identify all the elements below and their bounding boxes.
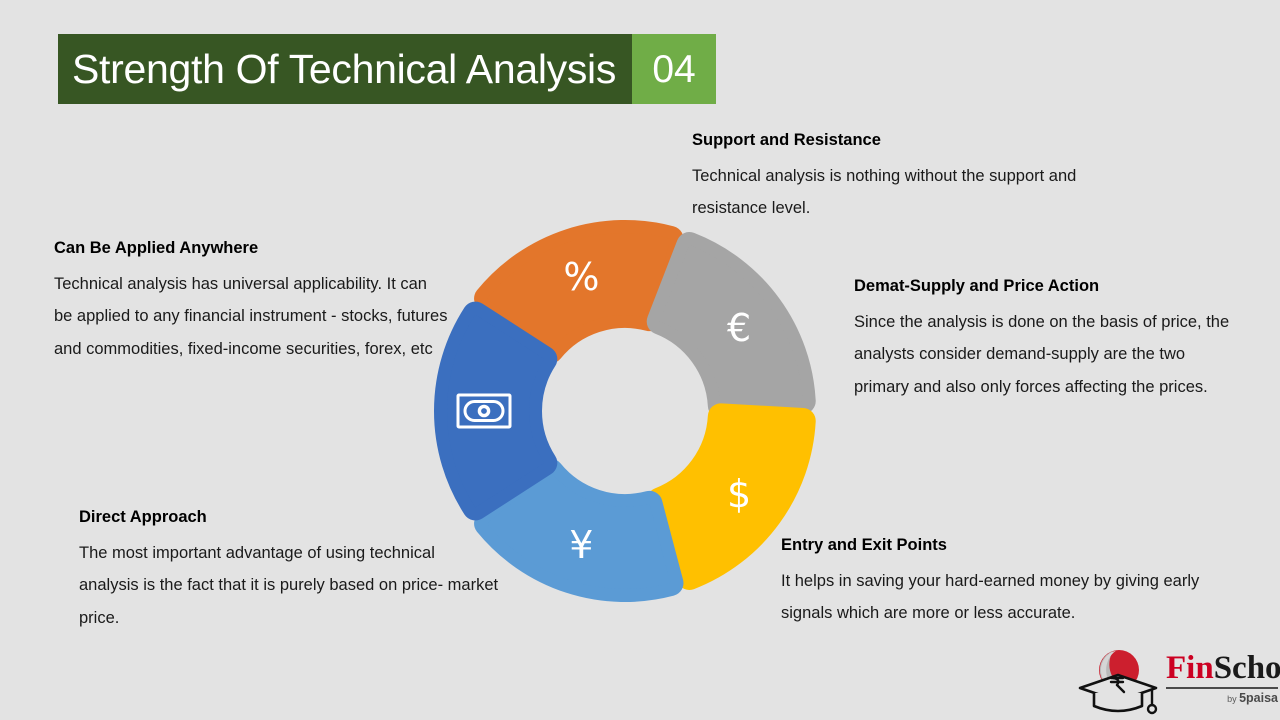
block-heading: Support and Resistance <box>692 131 1082 151</box>
euro-icon: € <box>727 306 751 350</box>
logo-tagline-by: by <box>1227 694 1239 704</box>
block-body: Technical analysis is nothing without th… <box>692 160 1082 225</box>
block-heading: Entry and Exit Points <box>781 536 1231 556</box>
title-number-badge: 04 <box>632 34 716 104</box>
text-block-can-be-applied-anywhere: Can Be Applied Anywhere Technical analys… <box>54 239 449 365</box>
donut-svg: % € $ ¥ <box>432 218 818 604</box>
logo-divider <box>1166 687 1278 689</box>
title-banner: Strength Of Technical Analysis <box>58 34 632 104</box>
logo-tagline-brand: 5paisa <box>1239 691 1278 705</box>
block-heading: Demat-Supply and Price Action <box>854 277 1234 297</box>
block-body: Technical analysis has universal applica… <box>54 268 449 366</box>
logo-wordmark: FinSchool by 5paisa <box>1166 652 1278 705</box>
block-heading: Can Be Applied Anywhere <box>54 239 449 259</box>
logo-brand-school: School <box>1214 650 1280 686</box>
block-body: It helps in saving your hard-earned mone… <box>781 565 1231 630</box>
text-block-support-and-resistance: Support and Resistance Technical analysi… <box>692 131 1082 225</box>
dollar-icon: $ <box>727 472 751 516</box>
donut-diagram: % € $ ¥ <box>432 218 818 604</box>
graduation-cap-rupee-icon <box>1072 648 1164 718</box>
yen-icon: ¥ <box>569 523 593 567</box>
slide-title-bar: Strength Of Technical Analysis 04 <box>58 34 716 104</box>
text-block-demat-supply-and-price-action: Demat-Supply and Price Action Since the … <box>854 277 1234 403</box>
slide-number: 04 <box>652 50 695 89</box>
logo-brand-fin: Fin <box>1166 650 1214 686</box>
text-block-entry-and-exit-points: Entry and Exit Points It helps in saving… <box>781 536 1231 630</box>
slide-canvas: Strength Of Technical Analysis 04 Suppor… <box>0 0 1280 720</box>
finschool-logo: FinSchool by 5paisa <box>1072 648 1277 718</box>
logo-brand-text: FinSchool <box>1166 652 1278 685</box>
donut-segment-can-be-applied-anywhere[interactable] <box>447 315 544 508</box>
page-title: Strength Of Technical Analysis <box>72 49 616 90</box>
logo-tagline: by 5paisa <box>1166 691 1278 705</box>
percent-icon: % <box>563 255 599 299</box>
block-body: Since the analysis is done on the basis … <box>854 306 1234 404</box>
